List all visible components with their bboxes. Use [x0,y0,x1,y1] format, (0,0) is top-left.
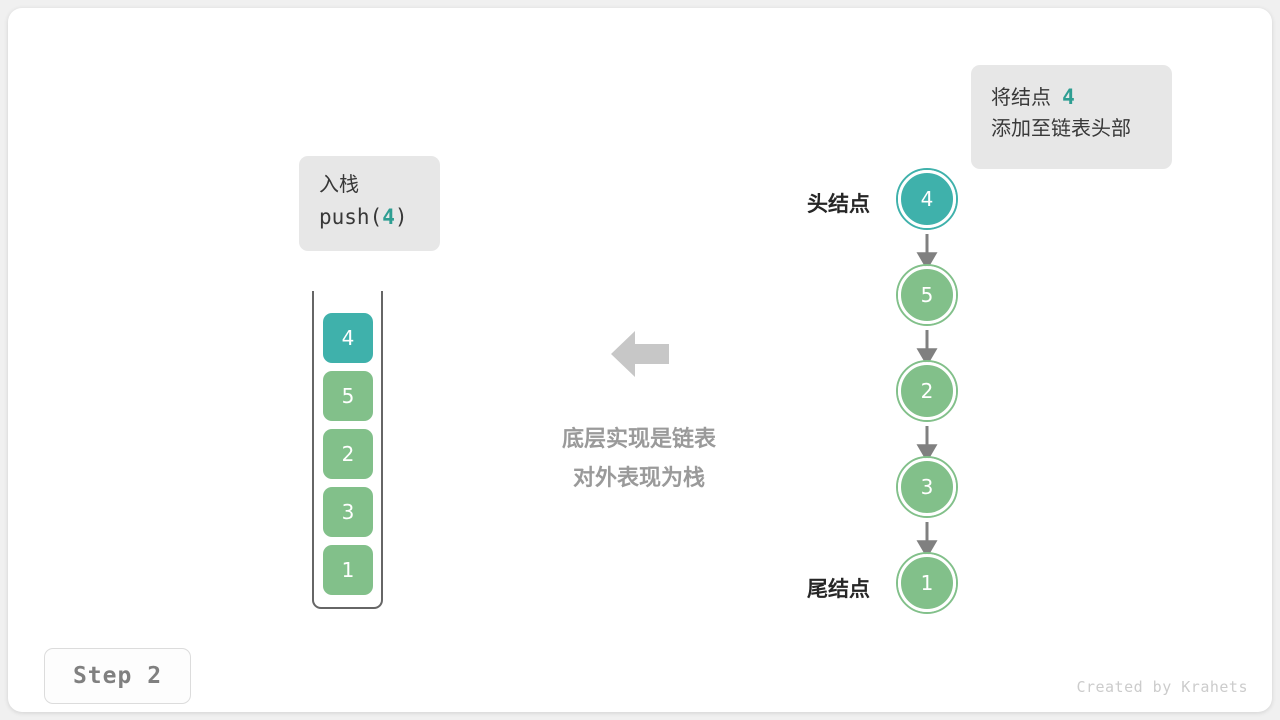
linked-list-node: 5 [898,266,956,324]
linked-list-node: 3 [898,458,956,516]
head-insert-value: 4 [1062,85,1075,109]
linked-list-node: 2 [898,362,956,420]
head-insert-line2: 添加至链表头部 [991,114,1152,145]
push-label-cn: 入栈 [319,170,420,201]
stack-cell: 4 [323,313,373,363]
stack-cell: 5 [323,371,373,421]
caption-line-1: 底层实现是链表 [484,420,794,459]
caption-line-2: 对外表现为栈 [484,459,794,498]
head-insert-prefix: 将结点 [991,87,1051,109]
head-insert-label: 将结点 4 添加至链表头部 [971,65,1172,169]
head-node-label: 头结点 [807,188,870,218]
push-operation-label: 入栈 push(4) [299,156,440,251]
linked-list-node: 1 [898,554,956,612]
stack-cell: 2 [323,429,373,479]
linked-list: 45231 头结点 尾结点 [778,158,1038,628]
tail-node-label: 尾结点 [807,573,870,603]
credit-text: Created by Krahets [1076,678,1248,696]
diagram-canvas: 入栈 push(4) 将结点 4 添加至链表头部 45231 底层实现是链表 对… [8,8,1272,712]
push-label-code: push(4) [319,201,420,234]
stack-cell: 3 [323,487,373,537]
head-insert-line1: 将结点 4 [991,81,1152,114]
center-caption: 底层实现是链表 对外表现为栈 [484,420,794,497]
left-arrow-icon [609,323,671,385]
step-badge: Step 2 [44,648,191,704]
push-code-value: 4 [382,205,395,229]
stack-cell: 1 [323,545,373,595]
push-code-prefix: push( [319,205,382,229]
stack-container: 45231 [312,291,383,609]
push-code-suffix: ) [395,205,408,229]
linked-list-node: 4 [898,170,956,228]
